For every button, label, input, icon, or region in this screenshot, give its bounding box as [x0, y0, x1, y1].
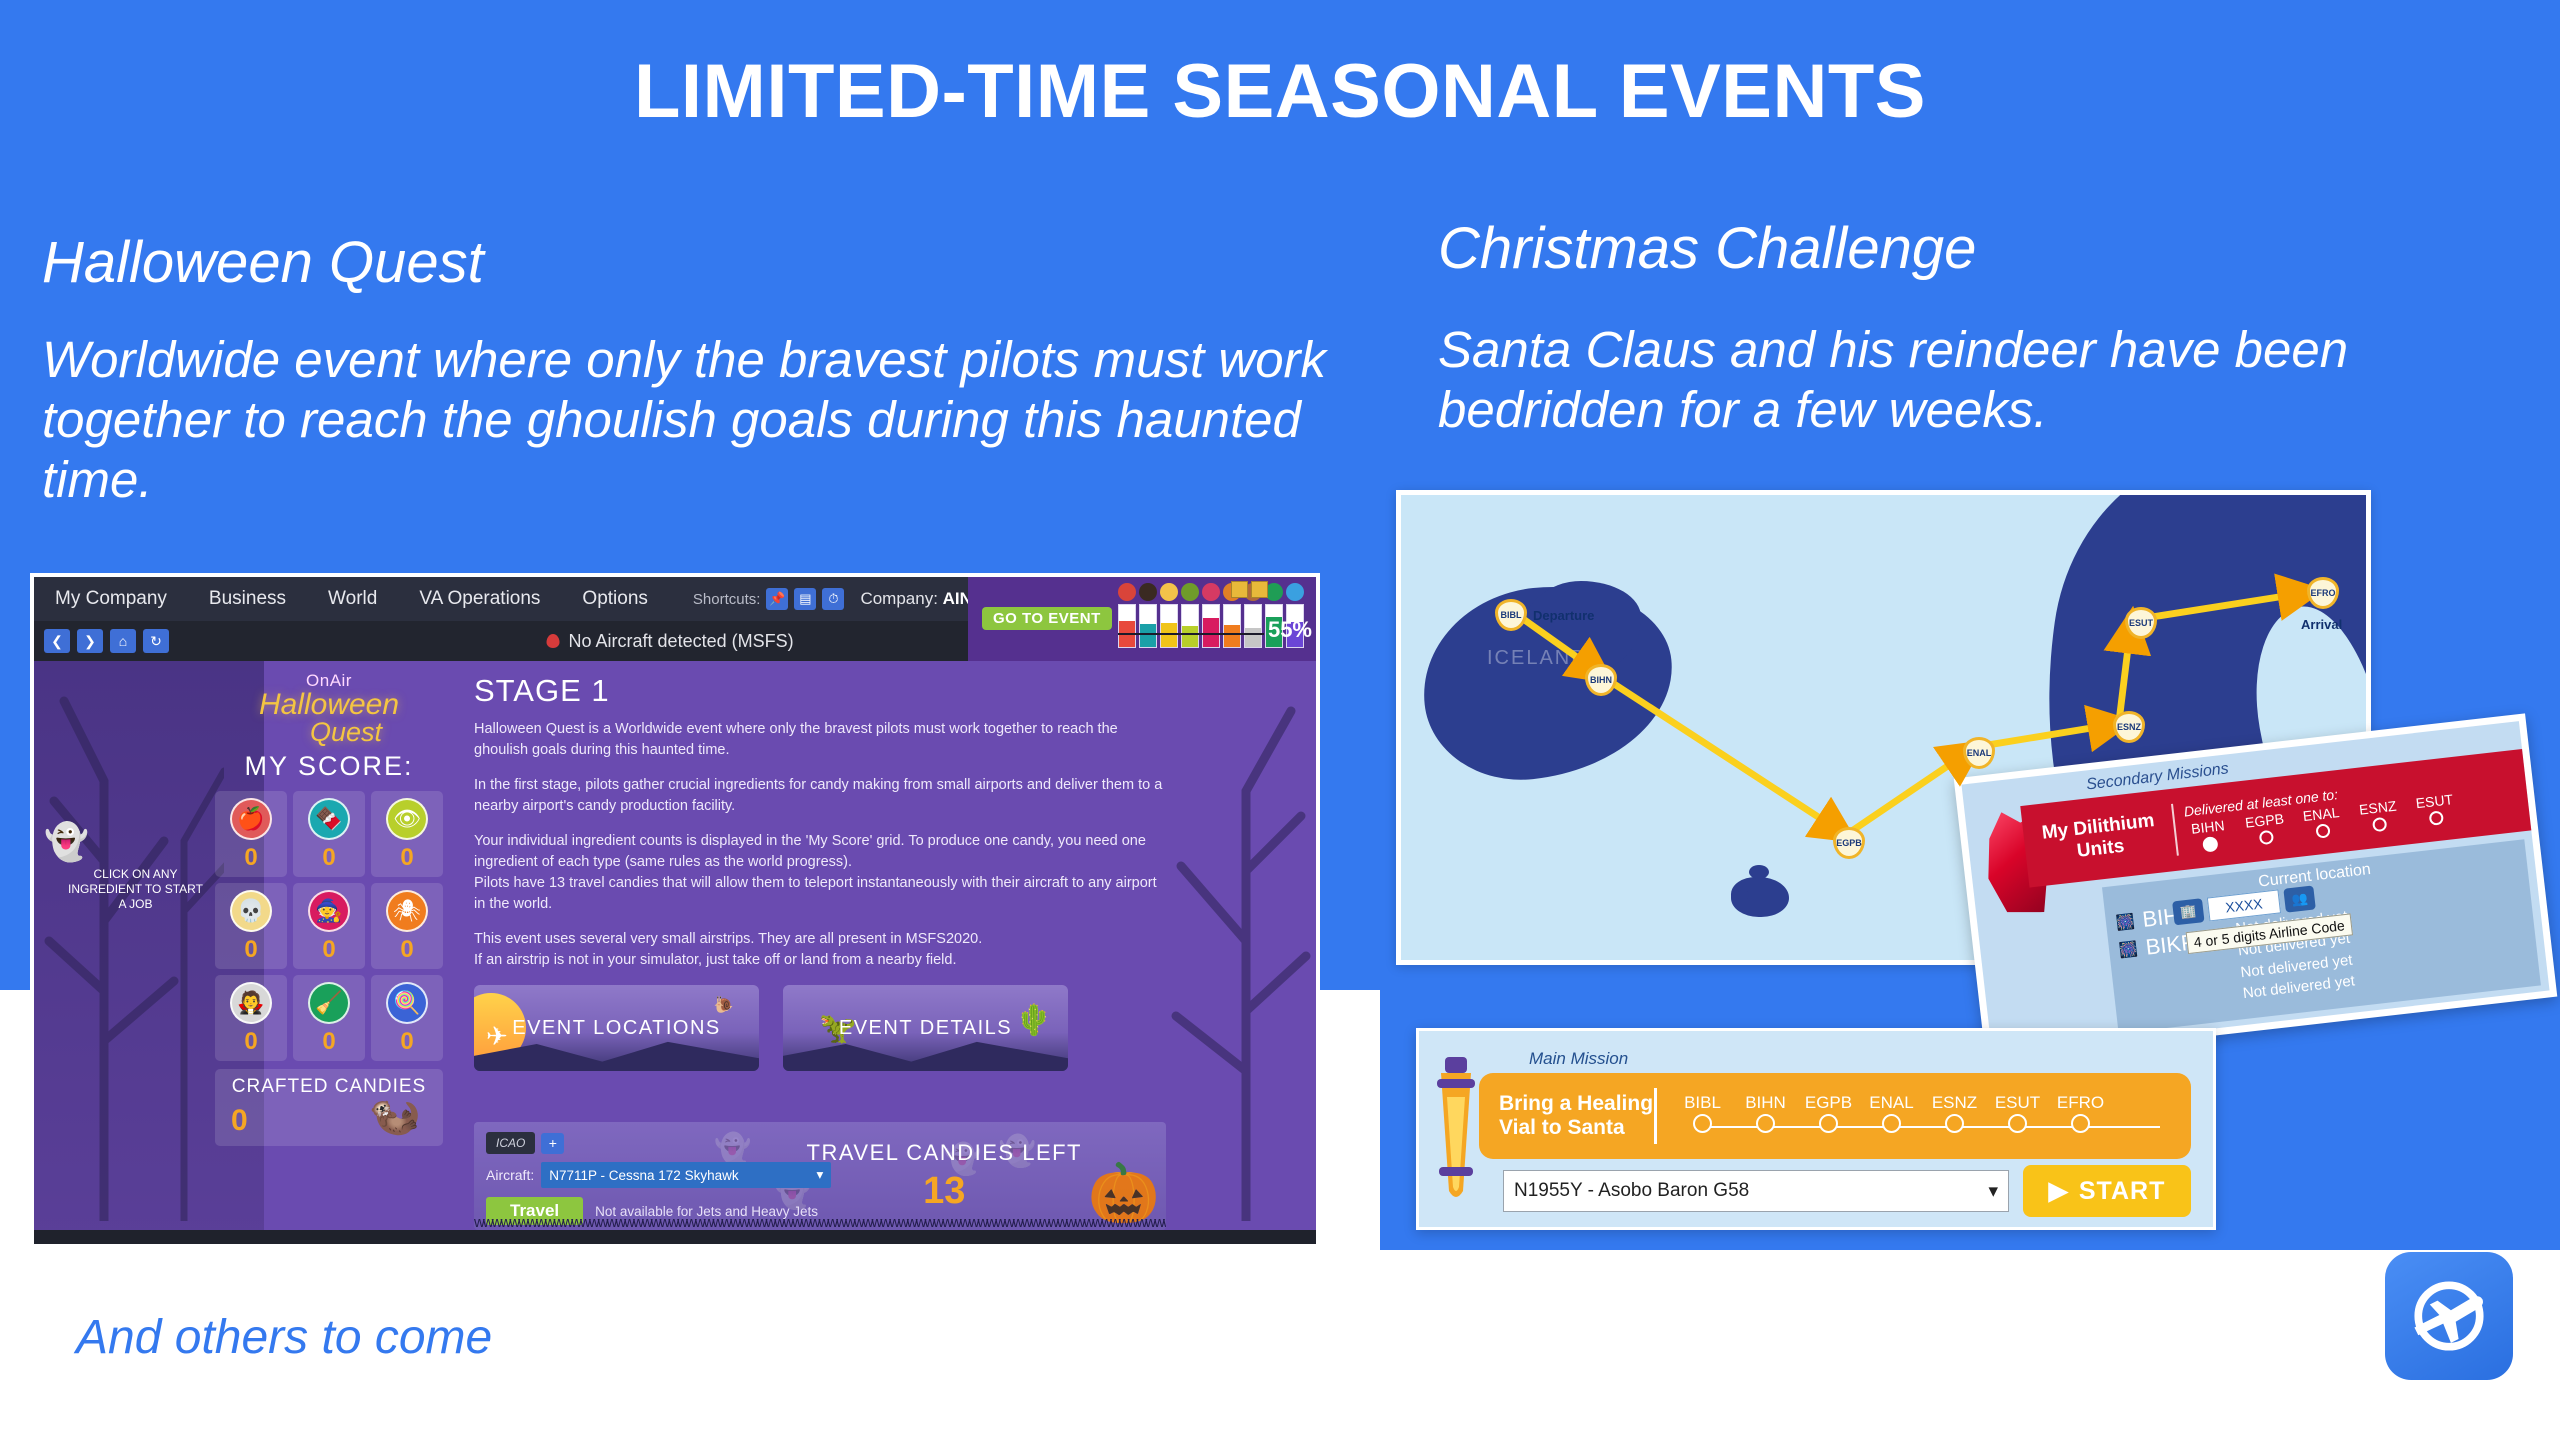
- ingredient-skull[interactable]: 💀0: [215, 883, 287, 969]
- leg-indicator: [1923, 1114, 1986, 1133]
- main-mission-label: Main Mission: [1529, 1049, 1628, 1069]
- page-title: LIMITED-TIME SEASONAL EVENTS: [0, 48, 2560, 135]
- skull-icon: 💀: [230, 890, 272, 932]
- biplane-icon: ✈: [486, 1021, 509, 1052]
- route-lines: [1401, 495, 2366, 960]
- leg-code: EFRO: [2049, 1093, 2112, 1113]
- mission-title-line2: Vial to Santa: [1499, 1116, 1654, 1140]
- forward-icon[interactable]: ❯: [77, 629, 103, 653]
- world-ingredient-column: [1181, 583, 1199, 648]
- event-locations-label: EVENT LOCATIONS: [512, 1017, 720, 1040]
- leg-pending-icon: [2008, 1114, 2027, 1133]
- ingredient-count: 0: [371, 844, 443, 872]
- ingredient-count: 0: [215, 844, 287, 872]
- event-progress-banner[interactable]: GO TO EVENT 55%: [968, 577, 1316, 661]
- tree-silhouette-left-icon: [34, 661, 224, 1244]
- my-score-panel: OnAir Halloween Quest MY SCORE: 🍎0🍫0👁0💀0…: [204, 671, 454, 1146]
- ingredient-count: 0: [293, 936, 365, 964]
- menu-options[interactable]: Options: [561, 588, 668, 610]
- ingredient-candy-apple[interactable]: 🍎0: [215, 791, 287, 877]
- ingredient-chocolate[interactable]: 🍫0: [293, 791, 365, 877]
- back-icon[interactable]: ❮: [44, 629, 70, 653]
- mission-aircraft-value: N1955Y - Asobo Baron G58: [1514, 1180, 1749, 1202]
- progress-threshold-line: [1118, 633, 1264, 635]
- world-ingredient-icon: [1118, 583, 1136, 601]
- ingredient-lollipop[interactable]: 🍭0: [371, 975, 443, 1061]
- aircraft-label: Aircraft:: [486, 1167, 534, 1183]
- ingredient-count: 0: [293, 844, 365, 872]
- event-badges: [1231, 581, 1268, 598]
- start-button[interactable]: ▶ START: [2023, 1165, 2191, 1217]
- grass-silhouette: wwwwwwwwwwwwwwwwwwwwwwwwwwwwwwwwwwwwwwww…: [474, 1214, 1166, 1230]
- ingredient-count: 0: [215, 1028, 287, 1056]
- spider-icon: 🕷: [386, 890, 428, 932]
- cauldron-icon: 🦦: [369, 1091, 421, 1140]
- status-indicator-icon: [547, 634, 560, 648]
- event-details-label: EVENT DETAILS: [839, 1017, 1012, 1040]
- eyeball-icon: 👁: [386, 798, 428, 840]
- leg-indicator: [1860, 1114, 1923, 1133]
- leg-code: ENAL: [1860, 1093, 1923, 1113]
- mission-legs: BIBLBIHNEGPBENALESNZESUTEFRO: [1657, 1093, 2191, 1140]
- crafted-candies-panel: CRAFTED CANDIES 0 🦦: [215, 1069, 443, 1146]
- leg-indicator: [1671, 1114, 1734, 1133]
- halloween-brand-line1: Halloween: [204, 691, 454, 720]
- chevron-down-icon: ▾: [1988, 1180, 1998, 1203]
- stage-paragraph-2: In the first stage, pilots gather crucia…: [474, 775, 1166, 817]
- leg-pending-icon: [1693, 1114, 1712, 1133]
- footer-note: And others to come: [76, 1310, 492, 1365]
- icao-row: ICAO +: [486, 1132, 831, 1154]
- cactus-icon: 🌵: [1015, 1003, 1054, 1038]
- ingredient-spider[interactable]: 🕷0: [371, 883, 443, 969]
- world-ingredient-column: [1139, 583, 1157, 648]
- ingredient-count: 0: [293, 1028, 365, 1056]
- ingredient-count: 0: [371, 1028, 443, 1056]
- mission-aircraft-select[interactable]: N1955Y - Asobo Baron G58 ▾: [1503, 1170, 2009, 1212]
- menu-business[interactable]: Business: [188, 588, 307, 610]
- airplane-circle-icon: [2401, 1268, 2497, 1364]
- leg-code: EGPB: [1797, 1093, 1860, 1113]
- progress-percent: 55%: [1268, 617, 1312, 643]
- leg-pending-icon: [1756, 1114, 1775, 1133]
- broom-icon: 🧹: [308, 982, 350, 1024]
- event-details-button[interactable]: 🦖 🌵 EVENT DETAILS: [783, 985, 1068, 1071]
- click-ingredient-hint: CLICK ON ANY INGREDIENT TO START A JOB: [68, 867, 203, 912]
- halloween-heading: Halloween Quest: [42, 232, 942, 295]
- pending-dot-icon: [2429, 810, 2444, 825]
- my-score-label: MY SCORE:: [204, 751, 454, 782]
- aircraft-select-value: N7711P - Cessna 172 Skyhawk: [549, 1168, 738, 1183]
- leg-pending-icon: [1819, 1114, 1838, 1133]
- world-ingredient-icon: [1160, 583, 1178, 601]
- icao-add-button[interactable]: +: [541, 1133, 564, 1154]
- world-ingredient-bar: [1223, 604, 1241, 648]
- company-prefix: Company:: [860, 589, 937, 608]
- departure-label: Departure: [1533, 608, 1594, 623]
- event-buttons-row: ✈ 🐌 EVENT LOCATIONS 🦖 🌵 EVENT DETAILS: [474, 985, 1166, 1071]
- travel-candies-label: TRAVEL CANDIES LEFT: [807, 1140, 1082, 1166]
- leg-codes: BIBLBIHNEGPBENALESNZESUTEFRO: [1671, 1093, 2191, 1113]
- ingredient-grid[interactable]: 🍎0🍫0👁0💀0🧙0🕷0🧛0🧹0🍭0: [215, 791, 443, 1061]
- world-ingredient-column: [1160, 583, 1178, 648]
- world-ingredient-column: [1118, 583, 1136, 648]
- mission-band: Bring a Healing Vial to Santa BIBLBIHNEG…: [1479, 1073, 2191, 1159]
- world-ingredient-bar: [1118, 604, 1136, 648]
- shortcuts-label: Shortcuts:: [693, 591, 761, 608]
- main-mission-card[interactable]: Main Mission Bring a Healing Vial to San…: [1416, 1028, 2216, 1230]
- delivery-indicator: [2414, 808, 2459, 828]
- aircraft-status: No Aircraft detected (MSFS): [547, 631, 794, 652]
- stage-paragraph-4: This event uses several very small airst…: [474, 929, 1166, 971]
- leg-indicator: [1734, 1114, 1797, 1133]
- ingredient-witch-hat[interactable]: 🧙0: [293, 883, 365, 969]
- world-ingredient-icon: [1181, 583, 1199, 601]
- ingredient-broom[interactable]: 🧹0: [293, 975, 365, 1061]
- halloween-description: Worldwide event where only the bravest p…: [42, 330, 1342, 511]
- onair-logo: [2385, 1252, 2513, 1380]
- lollipop-icon: 🍭: [386, 982, 428, 1024]
- vampire-teeth-icon: 🧛: [230, 982, 272, 1024]
- leg-code: ESNZ: [1923, 1093, 1986, 1113]
- app-footer-strip: [34, 1230, 1316, 1244]
- world-ingredient-bar: [1244, 604, 1262, 648]
- world-ingredient-bar: [1181, 604, 1199, 648]
- chocolate-icon: 🍫: [308, 798, 350, 840]
- leg-pending-icon: [2071, 1114, 2090, 1133]
- leg-progress: [1671, 1114, 2191, 1140]
- halloween-quest-screenshot[interactable]: My Company Business World VA Operations …: [30, 573, 1320, 1248]
- mission-title-line1: Bring a Healing: [1499, 1092, 1654, 1116]
- event-locations-button[interactable]: ✈ 🐌 EVENT LOCATIONS: [474, 985, 759, 1071]
- world-ingredient-column: [1202, 583, 1220, 648]
- stage-paragraph-3: Your individual ingredient counts is dis…: [474, 831, 1166, 915]
- shortcuts-group: Shortcuts: 📌 ▤ ⏱: [693, 588, 845, 610]
- travel-controls: ICAO + Aircraft: N7711P - Cessna 172 Sky…: [486, 1132, 831, 1225]
- world-ingredient-bar: [1139, 604, 1157, 648]
- witch-hat-icon: 🧙: [308, 890, 350, 932]
- mission-title: Bring a Healing Vial to Santa: [1479, 1092, 1654, 1140]
- panels-icon[interactable]: ▤: [794, 588, 816, 610]
- clock-icon[interactable]: ⏱: [822, 588, 844, 610]
- play-icon: ▶: [2049, 1176, 2069, 1206]
- go-to-event-button[interactable]: GO TO EVENT: [982, 607, 1112, 630]
- leg-pending-icon: [1882, 1114, 1901, 1133]
- healing-vial-icon: [1427, 1057, 1485, 1202]
- world-ingredient-bar: [1160, 604, 1178, 648]
- menu-my-company[interactable]: My Company: [34, 588, 188, 610]
- home-icon[interactable]: ⌂: [110, 629, 136, 653]
- aircraft-row: Aircraft: N7711P - Cessna 172 Skyhawk ▾: [486, 1162, 831, 1188]
- ghost-icon: 👻: [44, 821, 89, 863]
- leg-indicators: [1671, 1114, 2112, 1133]
- travel-candies-left: TRAVEL CANDIES LEFT 13: [807, 1140, 1082, 1213]
- leg-code: BIBL: [1671, 1093, 1734, 1113]
- refresh-icon[interactable]: ↻: [143, 629, 169, 653]
- ingredient-eyeball[interactable]: 👁0: [371, 791, 443, 877]
- bat-icon: 🐌: [714, 995, 735, 1015]
- world-ingredient-icon: [1286, 583, 1304, 601]
- leg-indicator: [1986, 1114, 2049, 1133]
- pending-dot-icon: [2372, 816, 2387, 831]
- christmas-description: Santa Claus and his reindeer have been b…: [1438, 320, 2368, 440]
- leg-indicator: [2049, 1114, 2112, 1133]
- leg-code: BIHN: [1734, 1093, 1797, 1113]
- christmas-route-map[interactable]: ICELAND BIBL BIHN EGPB ENAL ESNZ ESUT EF…: [1396, 490, 2371, 965]
- menu-world[interactable]: World: [307, 588, 398, 610]
- pin-icon[interactable]: 📌: [766, 588, 788, 610]
- ingredient-vampire-teeth[interactable]: 🧛0: [215, 975, 287, 1061]
- travel-candy-bar: 👻 👻 👻 👻 ICAO + Aircraft: N7711P - Cessna…: [474, 1122, 1166, 1230]
- stage-column: STAGE 1 Halloween Quest is a Worldwide e…: [474, 673, 1166, 1071]
- world-ingredient-icon: [1202, 583, 1220, 601]
- stage-title: STAGE 1: [474, 673, 1166, 709]
- status-text: No Aircraft detected (MSFS): [569, 631, 794, 652]
- stage-paragraph-1: Halloween Quest is a Worldwide event whe…: [474, 719, 1166, 761]
- icao-input[interactable]: ICAO: [486, 1132, 535, 1154]
- christmas-heading: Christmas Challenge: [1438, 218, 2338, 281]
- mission-controls: N1955Y - Asobo Baron G58 ▾ ▶ START: [1503, 1165, 2191, 1217]
- leg-pending-icon: [1945, 1114, 1964, 1133]
- ingredient-count: 0: [215, 936, 287, 964]
- world-ingredient-bar: [1202, 604, 1220, 648]
- halloween-brand-line2: Quest: [238, 720, 454, 746]
- travel-candies-count: 13: [807, 1170, 1082, 1213]
- ingredient-count: 0: [371, 936, 443, 964]
- leg-code: ESUT: [1986, 1093, 2049, 1113]
- halloween-event-page: OnAir Halloween Quest MY SCORE: 🍎0🍫0👁0💀0…: [34, 661, 1316, 1244]
- aircraft-select[interactable]: N7711P - Cessna 172 Skyhawk ▾: [541, 1162, 831, 1188]
- menu-va-operations[interactable]: VA Operations: [398, 588, 561, 610]
- candy-apple-icon: 🍎: [230, 798, 272, 840]
- leg-indicator: [1797, 1114, 1860, 1133]
- world-ingredient-icon: [1139, 583, 1157, 601]
- start-label: START: [2079, 1177, 2165, 1206]
- arrival-label: Arrival: [2301, 617, 2342, 632]
